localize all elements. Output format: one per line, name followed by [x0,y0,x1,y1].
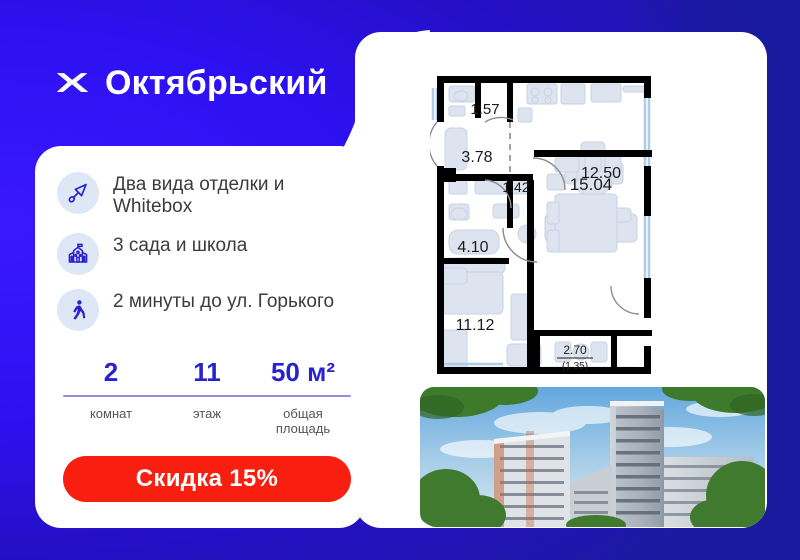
stat-value: 50 м² [255,358,351,387]
stat-area-label-col: общая площадь [255,406,351,437]
school-icon [57,233,99,275]
floor-plan-drawing: 1.57 3.78 4.10 15.04 1.42 11.12 12.50 [415,62,715,392]
apartment-stats: 2 11 50 м² комнат этаж [63,358,351,437]
area-label: 1.57 [470,101,499,118]
stat-values-row: 2 11 50 м² [63,358,351,387]
stat-value: 2 [63,358,159,387]
feature-item-finishing: Два вида отделки и Whitebox [57,172,357,219]
stat-labels-row: комнат этаж общая площадь [63,406,351,437]
feature-label: Два вида отделки и Whitebox [113,172,357,219]
area-label: 1.42 [502,179,529,195]
stat-floor-label-col: этаж [159,406,255,437]
feature-item-walk-distance: 2 минуты до ул. Горького [57,289,357,331]
floor-plan: 1.57 3.78 4.10 15.04 1.42 11.12 12.50 [415,62,715,392]
feature-item-schools: 3 сада и школа [57,233,357,275]
balcony-counted-area: (1.35) [562,361,588,372]
stat-rooms: 2 [63,358,159,387]
feature-label: 2 минуты до ул. Горького [113,289,334,313]
stat-value-number: 50 [271,357,300,387]
stat-label: комнат [63,406,159,422]
brand-name: Октябрьский [105,66,328,100]
feature-list: Два вида отделки и Whitebox [57,172,357,345]
stat-value-unit: м² [307,357,335,387]
stat-label: этаж [159,406,255,422]
stat-rooms-label-col: комнат [63,406,159,437]
x-mark-logo-icon [55,68,91,98]
building-photo-render [420,387,765,527]
brand-logo: Октябрьский [55,66,328,100]
advertisement-card: Октябрьский [0,0,800,560]
stat-area: 50 м² [255,358,351,387]
stat-label: общая площадь [255,406,351,437]
area-label: 3.78 [461,149,492,166]
building-photo [420,387,765,527]
info-card: Два вида отделки и Whitebox [35,146,365,528]
discount-button[interactable]: Скидка 15% [63,456,351,502]
stat-value: 11 [159,358,255,387]
area-label: 11.12 [456,317,495,334]
area-label-bedroom: 12.50 [581,165,621,182]
stat-floor: 11 [159,358,255,387]
feature-label: 3 сада и школа [113,233,247,257]
balcony-area: 2.70 [563,343,587,357]
stats-divider [63,395,351,397]
walking-person-icon [57,289,99,331]
area-label: 4.10 [457,239,488,256]
trowel-icon [57,172,99,214]
